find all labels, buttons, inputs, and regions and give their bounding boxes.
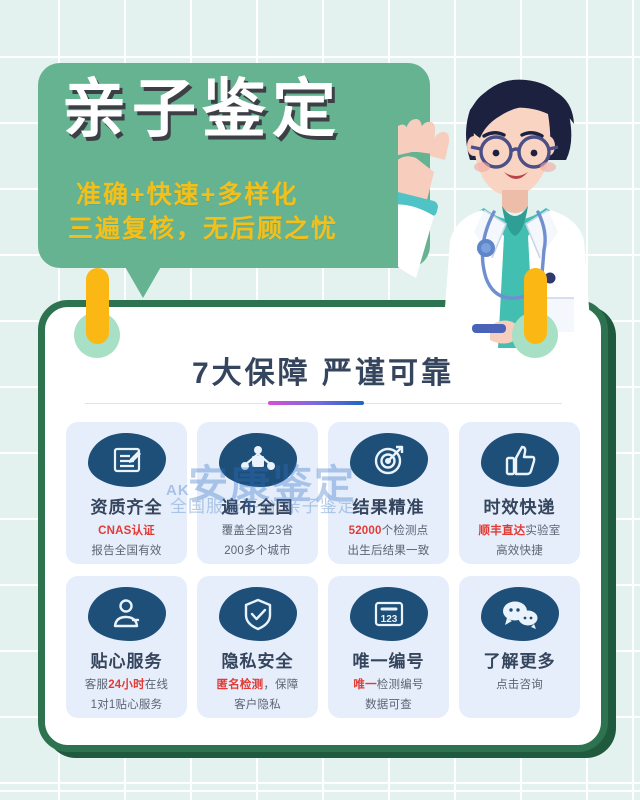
feature-card-coverage[interactable]: 遍布全国 覆盖全国23省 200多个城市: [197, 422, 318, 564]
feature-card-privacy[interactable]: 隐私安全 匿名检测，保障 客户隐私: [197, 576, 318, 718]
chat-bubbles-icon: [481, 587, 559, 641]
feature-line-1: 覆盖全国23省: [222, 522, 294, 538]
feature-line-1: 顺丰直达实验室: [479, 522, 561, 538]
divider-accent: [268, 401, 364, 405]
feature-line-2: 200多个城市: [224, 542, 291, 558]
hero-speech-tail: [124, 265, 162, 298]
feature-card-delivery[interactable]: 时效快递 顺丰直达实验室 高效快捷: [459, 422, 580, 564]
feature-card-learn-more[interactable]: 了解更多 点击咨询: [459, 576, 580, 718]
feature-title: 时效快递: [484, 493, 556, 518]
document-pencil-icon: [88, 433, 166, 487]
svg-text:123: 123: [380, 614, 397, 625]
feature-title: 资质齐全: [91, 493, 163, 518]
feature-line-1: 唯一检测编号: [353, 676, 423, 692]
feature-line-1: 52000个检测点: [349, 522, 429, 538]
feature-card-accuracy[interactable]: 结果精准 52000个检测点 出生后结果一致: [328, 422, 449, 564]
hero-title: 亲子鉴定: [62, 72, 342, 148]
feature-title: 结果精准: [353, 493, 425, 518]
feature-grid: 资质齐全 CNAS认证 报告全国有效 遍布全国 覆盖全国23省 200多个城市 …: [66, 422, 580, 718]
feature-line-2: 客户隐私: [234, 696, 281, 712]
hero-subtitle-line-1: 准确+快速+多样化: [76, 175, 298, 211]
feature-title: 遍布全国: [222, 493, 294, 518]
feature-line-2: 高效快捷: [496, 542, 543, 558]
waving-hand: [398, 119, 449, 278]
feature-card-service[interactable]: 贴心服务 客服24小时在线 1对1贴心服务: [66, 576, 187, 718]
hero-subtitle-line-2: 三遍复核，无后顾之忧: [68, 209, 338, 245]
feature-line-2: 出生后结果一致: [348, 542, 430, 558]
target-arrow-icon: [350, 433, 428, 487]
feature-title: 唯一编号: [353, 647, 425, 672]
customer-service-icon: [88, 587, 166, 641]
feature-title: 隐私安全: [222, 647, 294, 672]
number-badge-icon: 123: [350, 587, 428, 641]
feature-card-unique-id[interactable]: 123 唯一编号 唯一检测编号 数据可查: [328, 576, 449, 718]
feature-line-2: 数据可查: [365, 696, 412, 712]
doctor-illustration: [398, 48, 640, 348]
feature-card-qualification[interactable]: 资质齐全 CNAS认证 报告全国有效: [66, 422, 187, 564]
feature-line-1: 客服24小时在线: [85, 676, 168, 692]
feature-line-1: CNAS认证: [98, 522, 155, 538]
feature-title: 贴心服务: [91, 647, 163, 672]
feature-title: 了解更多: [484, 647, 556, 672]
network-nodes-icon: [219, 433, 297, 487]
pin-stick: [86, 268, 109, 344]
feature-line-1: 匿名检测，保障: [217, 676, 299, 692]
thumbs-up-icon: [481, 433, 559, 487]
feature-line-1: 点击咨询: [496, 676, 543, 692]
panel-heading: 7大保障 严谨可靠: [38, 348, 608, 392]
pin-stick: [524, 268, 547, 344]
feature-line-2: 报告全国有效: [91, 542, 161, 558]
feature-line-2: 1对1贴心服务: [91, 696, 163, 712]
shield-check-icon: [219, 587, 297, 641]
